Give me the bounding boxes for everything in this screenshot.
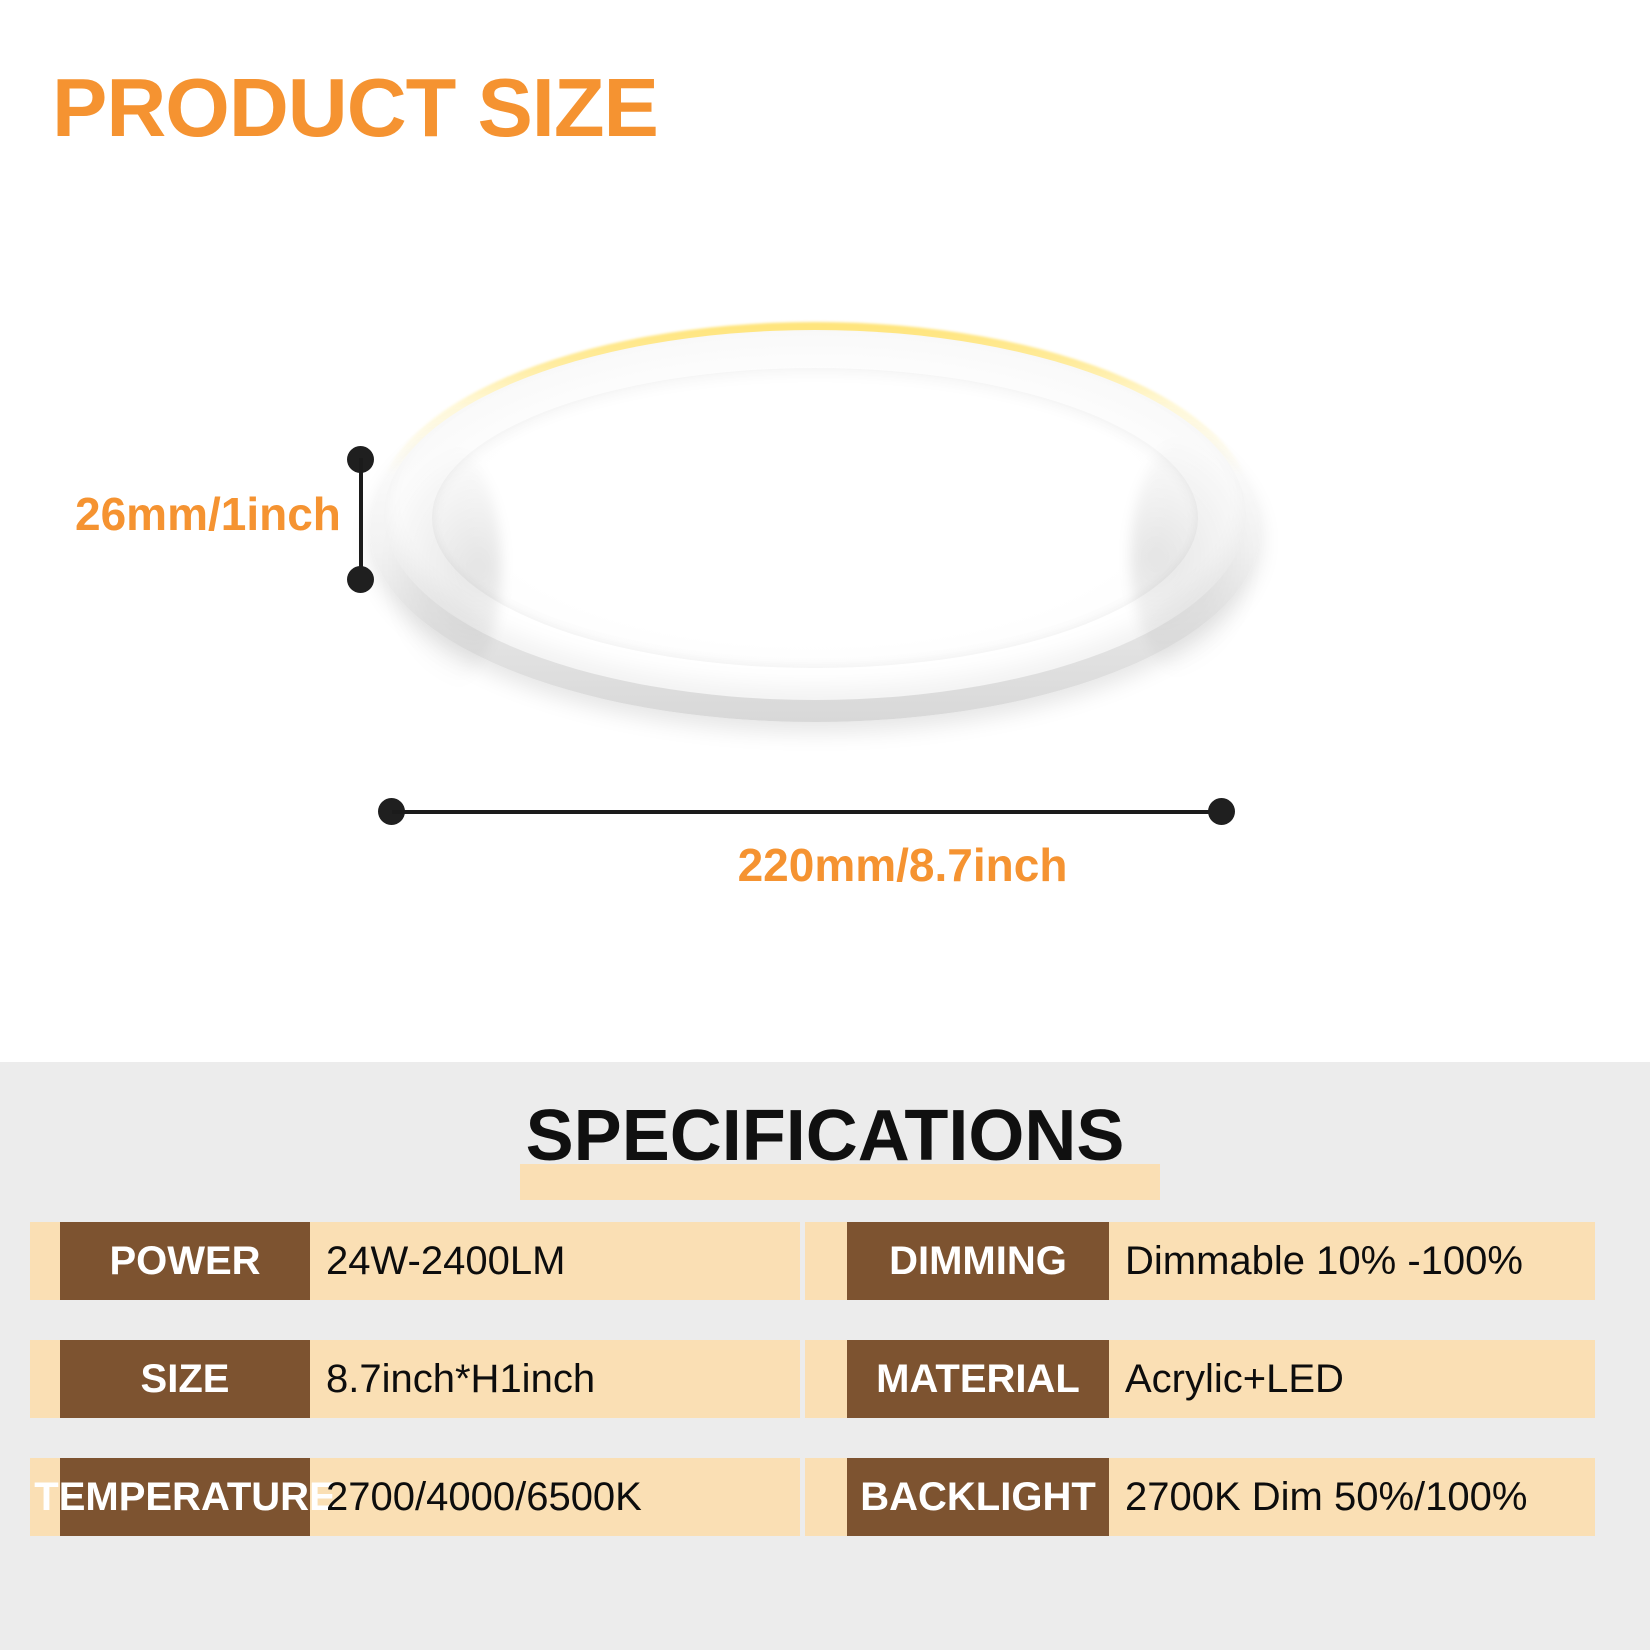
spec-item-dimming: DIMMING Dimmable 10% -100% xyxy=(805,1222,1595,1300)
spec-label: TEMPERATURE xyxy=(60,1458,310,1536)
page-title: PRODUCT SIZE xyxy=(52,62,658,153)
spec-item-temperature: TEMPERATURE 2700/4000/6500K xyxy=(30,1458,800,1536)
table-row: TEMPERATURE 2700/4000/6500K BACKLIGHT 27… xyxy=(0,1458,1650,1536)
width-dimension-label: 220mm/8.7inch xyxy=(0,838,1650,892)
lamp-left-shading xyxy=(382,442,502,692)
spec-item-backlight: BACKLIGHT 2700K Dim 50%/100% xyxy=(805,1458,1595,1536)
spec-label: MATERIAL xyxy=(847,1340,1109,1418)
ceiling-light-body xyxy=(370,322,1260,722)
spec-label: BACKLIGHT xyxy=(847,1458,1109,1536)
spec-label: SIZE xyxy=(60,1340,310,1418)
lamp-right-shading xyxy=(1130,432,1260,682)
specifications-title: SPECIFICATIONS xyxy=(526,1100,1125,1172)
specifications-table: POWER 24W-2400LM DIMMING Dimmable 10% -1… xyxy=(0,1222,1650,1576)
product-size-section: PRODUCT SIZE 26mm/1inch 220mm/8.7inch xyxy=(0,0,1650,1062)
height-dimension-label: 26mm/1inch xyxy=(75,487,341,541)
spec-value: 24W-2400LM xyxy=(326,1222,565,1300)
product-image xyxy=(355,322,1275,742)
specifications-heading: SPECIFICATIONS xyxy=(0,1100,1650,1196)
spec-value: Dimmable 10% -100% xyxy=(1125,1222,1523,1300)
specifications-section: SPECIFICATIONS POWER 24W-2400LM DIMMING … xyxy=(0,1062,1650,1650)
spec-value: 2700/4000/6500K xyxy=(326,1458,642,1536)
spec-item-power: POWER 24W-2400LM xyxy=(30,1222,800,1300)
lamp-diffuser-lens xyxy=(432,368,1198,668)
dimension-dot-icon xyxy=(347,566,374,593)
spec-label: DIMMING xyxy=(847,1222,1109,1300)
spec-value: Acrylic+LED xyxy=(1125,1340,1344,1418)
spec-value: 2700K Dim 50%/100% xyxy=(1125,1458,1527,1536)
spec-value: 8.7inch*H1inch xyxy=(326,1340,595,1418)
spec-label: POWER xyxy=(60,1222,310,1300)
spec-item-material: MATERIAL Acrylic+LED xyxy=(805,1340,1595,1418)
table-row: SIZE 8.7inch*H1inch MATERIAL Acrylic+LED xyxy=(0,1340,1650,1418)
spec-item-size: SIZE 8.7inch*H1inch xyxy=(30,1340,800,1418)
dimension-line-vertical xyxy=(359,458,363,578)
dimension-line-horizontal xyxy=(392,810,1222,814)
dimension-dot-icon xyxy=(1208,798,1235,825)
table-row: POWER 24W-2400LM DIMMING Dimmable 10% -1… xyxy=(0,1222,1650,1300)
